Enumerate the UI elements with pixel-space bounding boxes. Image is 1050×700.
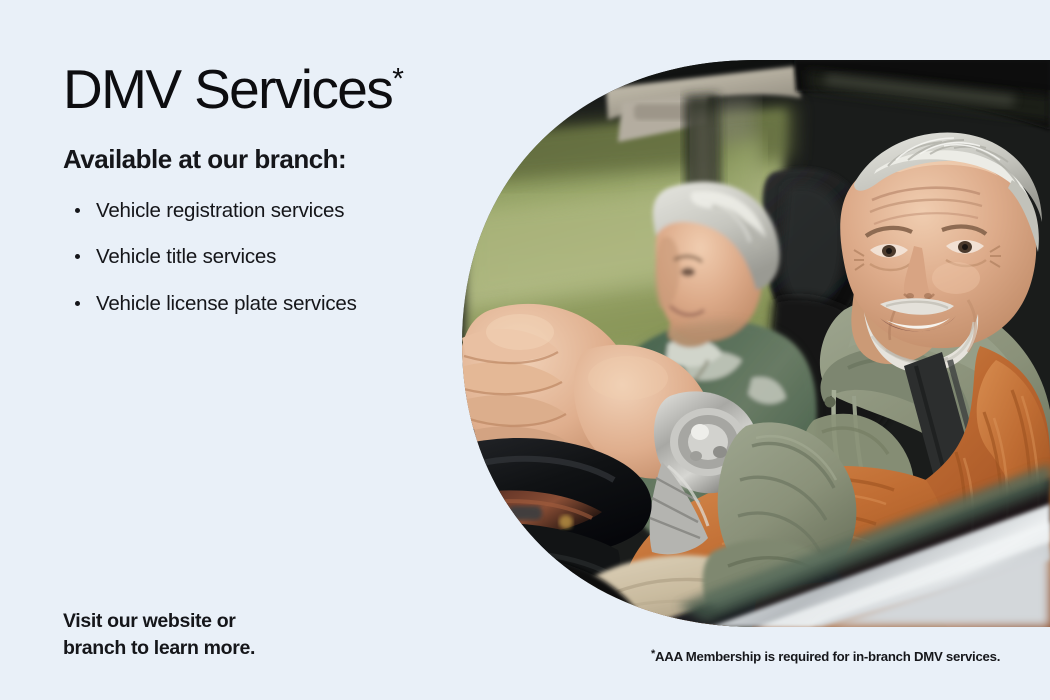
senior-couple-driving-car-photo [456, 60, 1050, 627]
services-list: Vehicle registration services Vehicle ti… [63, 198, 483, 317]
list-item-label: Vehicle registration services [96, 199, 344, 222]
text-column: DMV Services* Available at our branch: V… [63, 62, 483, 337]
bullet-icon [75, 254, 80, 259]
page-title-asterisk: * [392, 63, 404, 96]
page-title: DMV Services* [63, 62, 483, 117]
list-item-label: Vehicle license plate services [96, 292, 357, 315]
list-item: Vehicle title services [63, 244, 483, 270]
subheading: Available at our branch: [63, 145, 483, 174]
call-to-action-text: Visit our website or branch to learn mor… [63, 608, 255, 662]
list-item: Vehicle license plate services [63, 291, 483, 317]
bullet-icon [75, 301, 80, 306]
photo-illustration [456, 60, 1050, 627]
list-item-label: Vehicle title services [96, 245, 276, 268]
footnote-text: AAA Membership is required for in-branch… [655, 649, 1000, 664]
promo-banner: DMV Services* Available at our branch: V… [0, 0, 1050, 700]
page-title-text: DMV Services [63, 58, 392, 120]
footnote-disclaimer: *AAA Membership is required for in-branc… [651, 648, 1000, 664]
list-item: Vehicle registration services [63, 198, 483, 224]
bullet-icon [75, 208, 80, 213]
